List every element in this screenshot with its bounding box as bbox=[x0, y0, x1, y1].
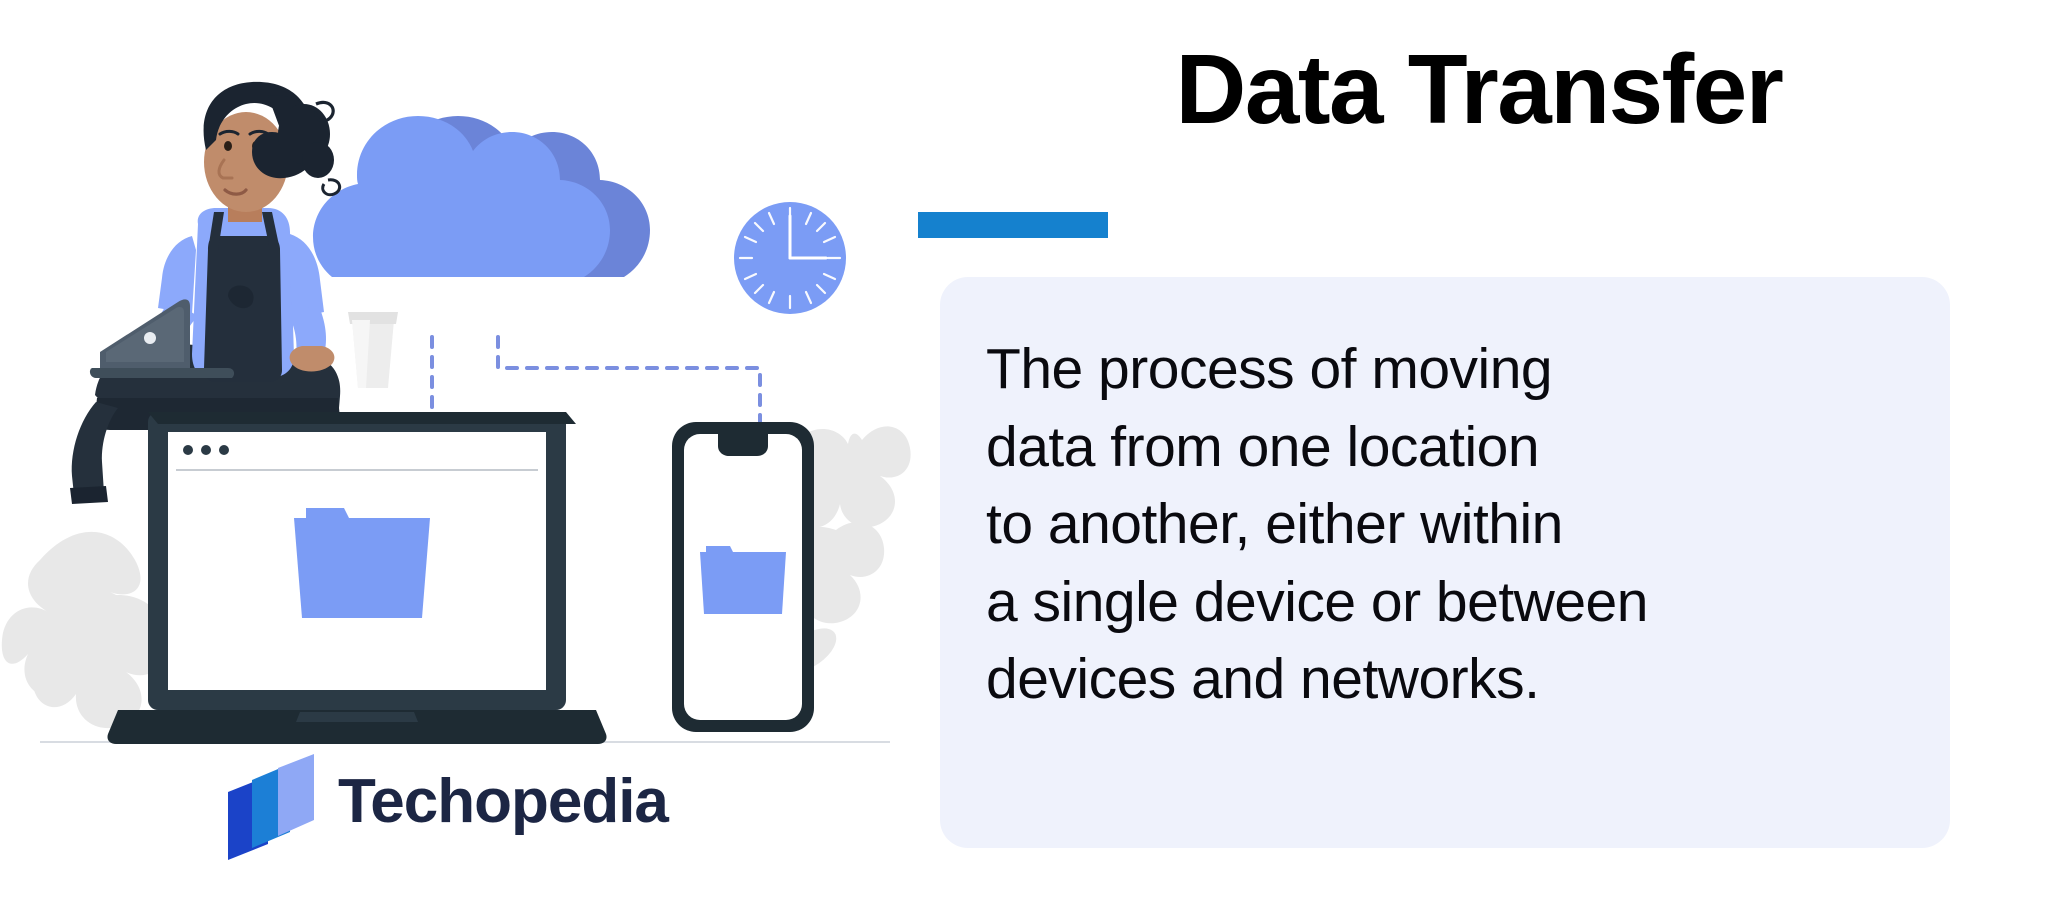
laptop-device bbox=[107, 412, 606, 744]
logo-shape-light bbox=[278, 754, 314, 836]
folder-icon bbox=[700, 546, 786, 614]
definition-text: The process of moving data from one loca… bbox=[986, 331, 1906, 719]
brand-wordmark: Techopedia bbox=[338, 766, 668, 837]
folder-icon bbox=[294, 508, 430, 618]
smartphone-device bbox=[672, 422, 814, 732]
illustration-panel: Techopedia bbox=[0, 0, 930, 924]
coffee-cup-icon bbox=[348, 312, 398, 388]
clock-icon bbox=[734, 202, 846, 314]
infographic-card: Techopedia Data Transfer The process of … bbox=[0, 0, 2048, 924]
cloud-icon bbox=[313, 116, 650, 277]
title-accent-bar bbox=[918, 212, 1108, 238]
content-panel: Data Transfer The process of moving data… bbox=[930, 0, 2048, 924]
page-title: Data Transfer bbox=[920, 38, 2038, 141]
brand-logo bbox=[228, 754, 314, 860]
definition-box: The process of moving data from one loca… bbox=[940, 277, 1950, 848]
